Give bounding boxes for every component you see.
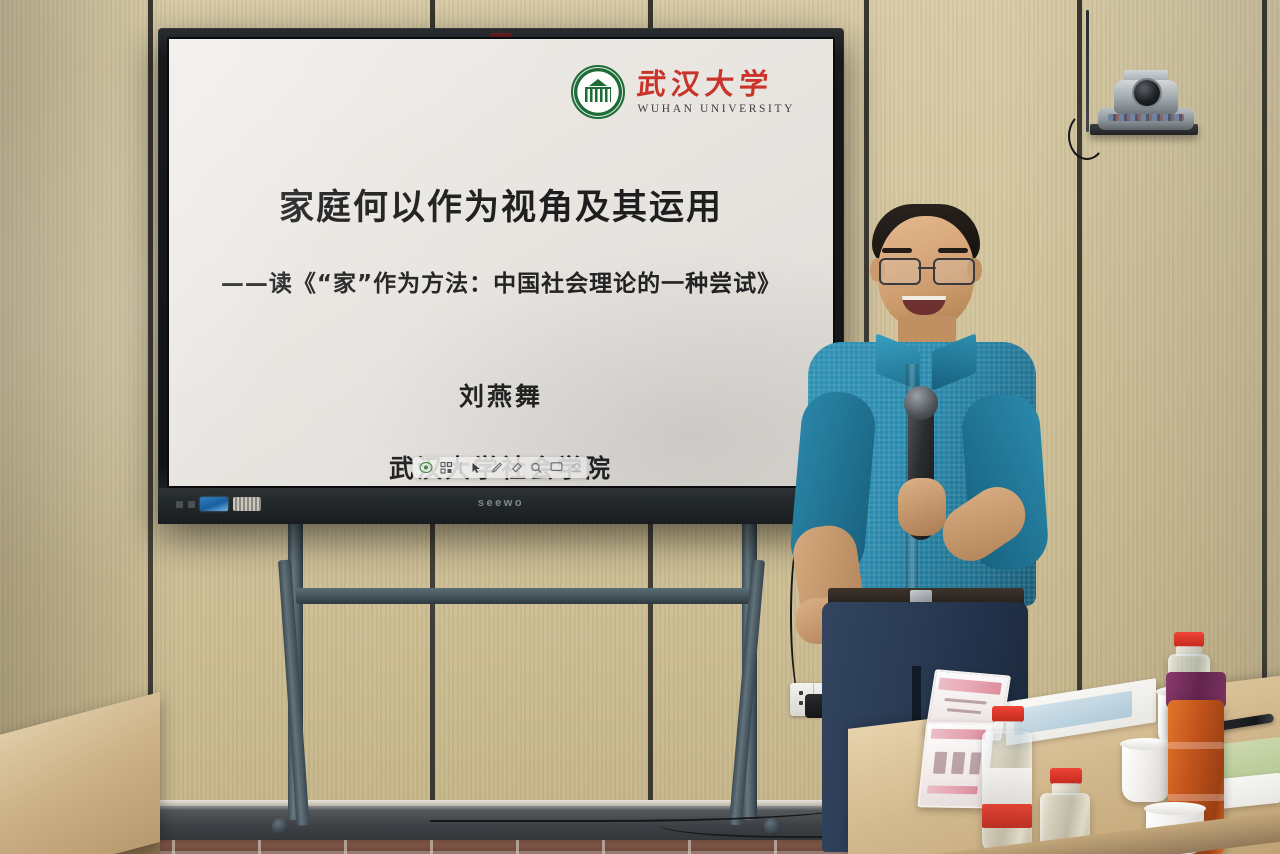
presenter [790, 196, 1060, 716]
toolbar-divider [461, 462, 462, 474]
logo-wordmark-en: WUHAN UNIVERSITY [637, 103, 795, 115]
camera-indicator-strip [1108, 114, 1184, 121]
bezel-port [176, 501, 183, 508]
display-bottom-bezel: seewo [158, 488, 844, 524]
display-brand-logo: seewo [478, 497, 524, 509]
wall-panel-seam [148, 0, 153, 812]
presentation-slide: 武汉大学 WUHAN UNIVERSITY 家庭何以作为视角及其运用 ——读《“… [169, 39, 833, 486]
annotation-toolbar[interactable] [413, 457, 590, 478]
palette-icon[interactable] [418, 460, 435, 475]
presentation-screen[interactable]: 武汉大学 WUHAN UNIVERSITY 家庭何以作为视角及其运用 ——读《“… [169, 39, 833, 486]
paper-cup-rim [1120, 738, 1172, 750]
camera-cable [1068, 112, 1106, 160]
slide-title: 家庭何以作为视角及其运用 [169, 179, 833, 230]
cursor-icon[interactable] [468, 460, 485, 475]
display-inner-frame: 武汉大学 WUHAN UNIVERSITY 家庭何以作为视角及其运用 ——读《“… [167, 37, 835, 488]
magnifier-icon[interactable] [528, 460, 545, 475]
glasses-icon [878, 258, 976, 282]
microphone-head [904, 386, 938, 420]
bottle-cap [1174, 632, 1204, 647]
thermos-band [1168, 742, 1224, 749]
bottle-cap [992, 706, 1024, 722]
stand-caster-left [272, 818, 289, 835]
presenter-hand-holding-mic [898, 478, 946, 536]
logo-wordmark-cn: 武汉大学 [636, 70, 796, 99]
pen-icon[interactable] [488, 460, 505, 475]
interactive-flat-panel-display[interactable]: 武汉大学 WUHAN UNIVERSITY 家庭何以作为视角及其运用 ——读《“… [158, 28, 844, 524]
bottle-label-accent [982, 804, 1032, 828]
bottle-label [982, 768, 1032, 804]
bottle-cap [1050, 768, 1082, 784]
wuhan-university-logo: 武汉大学 WUHAN UNIVERSITY [571, 65, 795, 119]
more-icon[interactable] [568, 460, 585, 475]
slide-subtitle: ——读《“家”作为方法：中国社会理论的一种尝试》 [169, 264, 833, 298]
slide-author-name: 刘燕舞 [169, 377, 833, 413]
stand-crossbar [296, 588, 750, 604]
camera-lens-icon [1134, 80, 1160, 106]
screen-icon[interactable] [548, 460, 565, 475]
eraser-icon[interactable] [508, 460, 525, 475]
paper-cup-rim [1144, 802, 1206, 815]
bezel-energy-sticker [200, 497, 228, 511]
presenter-brow-left [882, 248, 912, 253]
bezel-label-sticker [233, 497, 261, 511]
bezel-port-group [176, 497, 261, 511]
bezel-port [188, 501, 195, 508]
paper-cup [1122, 742, 1170, 802]
presenter-brow-right [938, 248, 968, 253]
thermos-band [1168, 794, 1224, 801]
grid-apps-icon[interactable] [438, 460, 455, 475]
university-crest-icon [571, 65, 625, 119]
lecture-room-photo: 武汉大学 WUHAN UNIVERSITY 家庭何以作为视角及其运用 ——读《“… [0, 0, 1280, 854]
